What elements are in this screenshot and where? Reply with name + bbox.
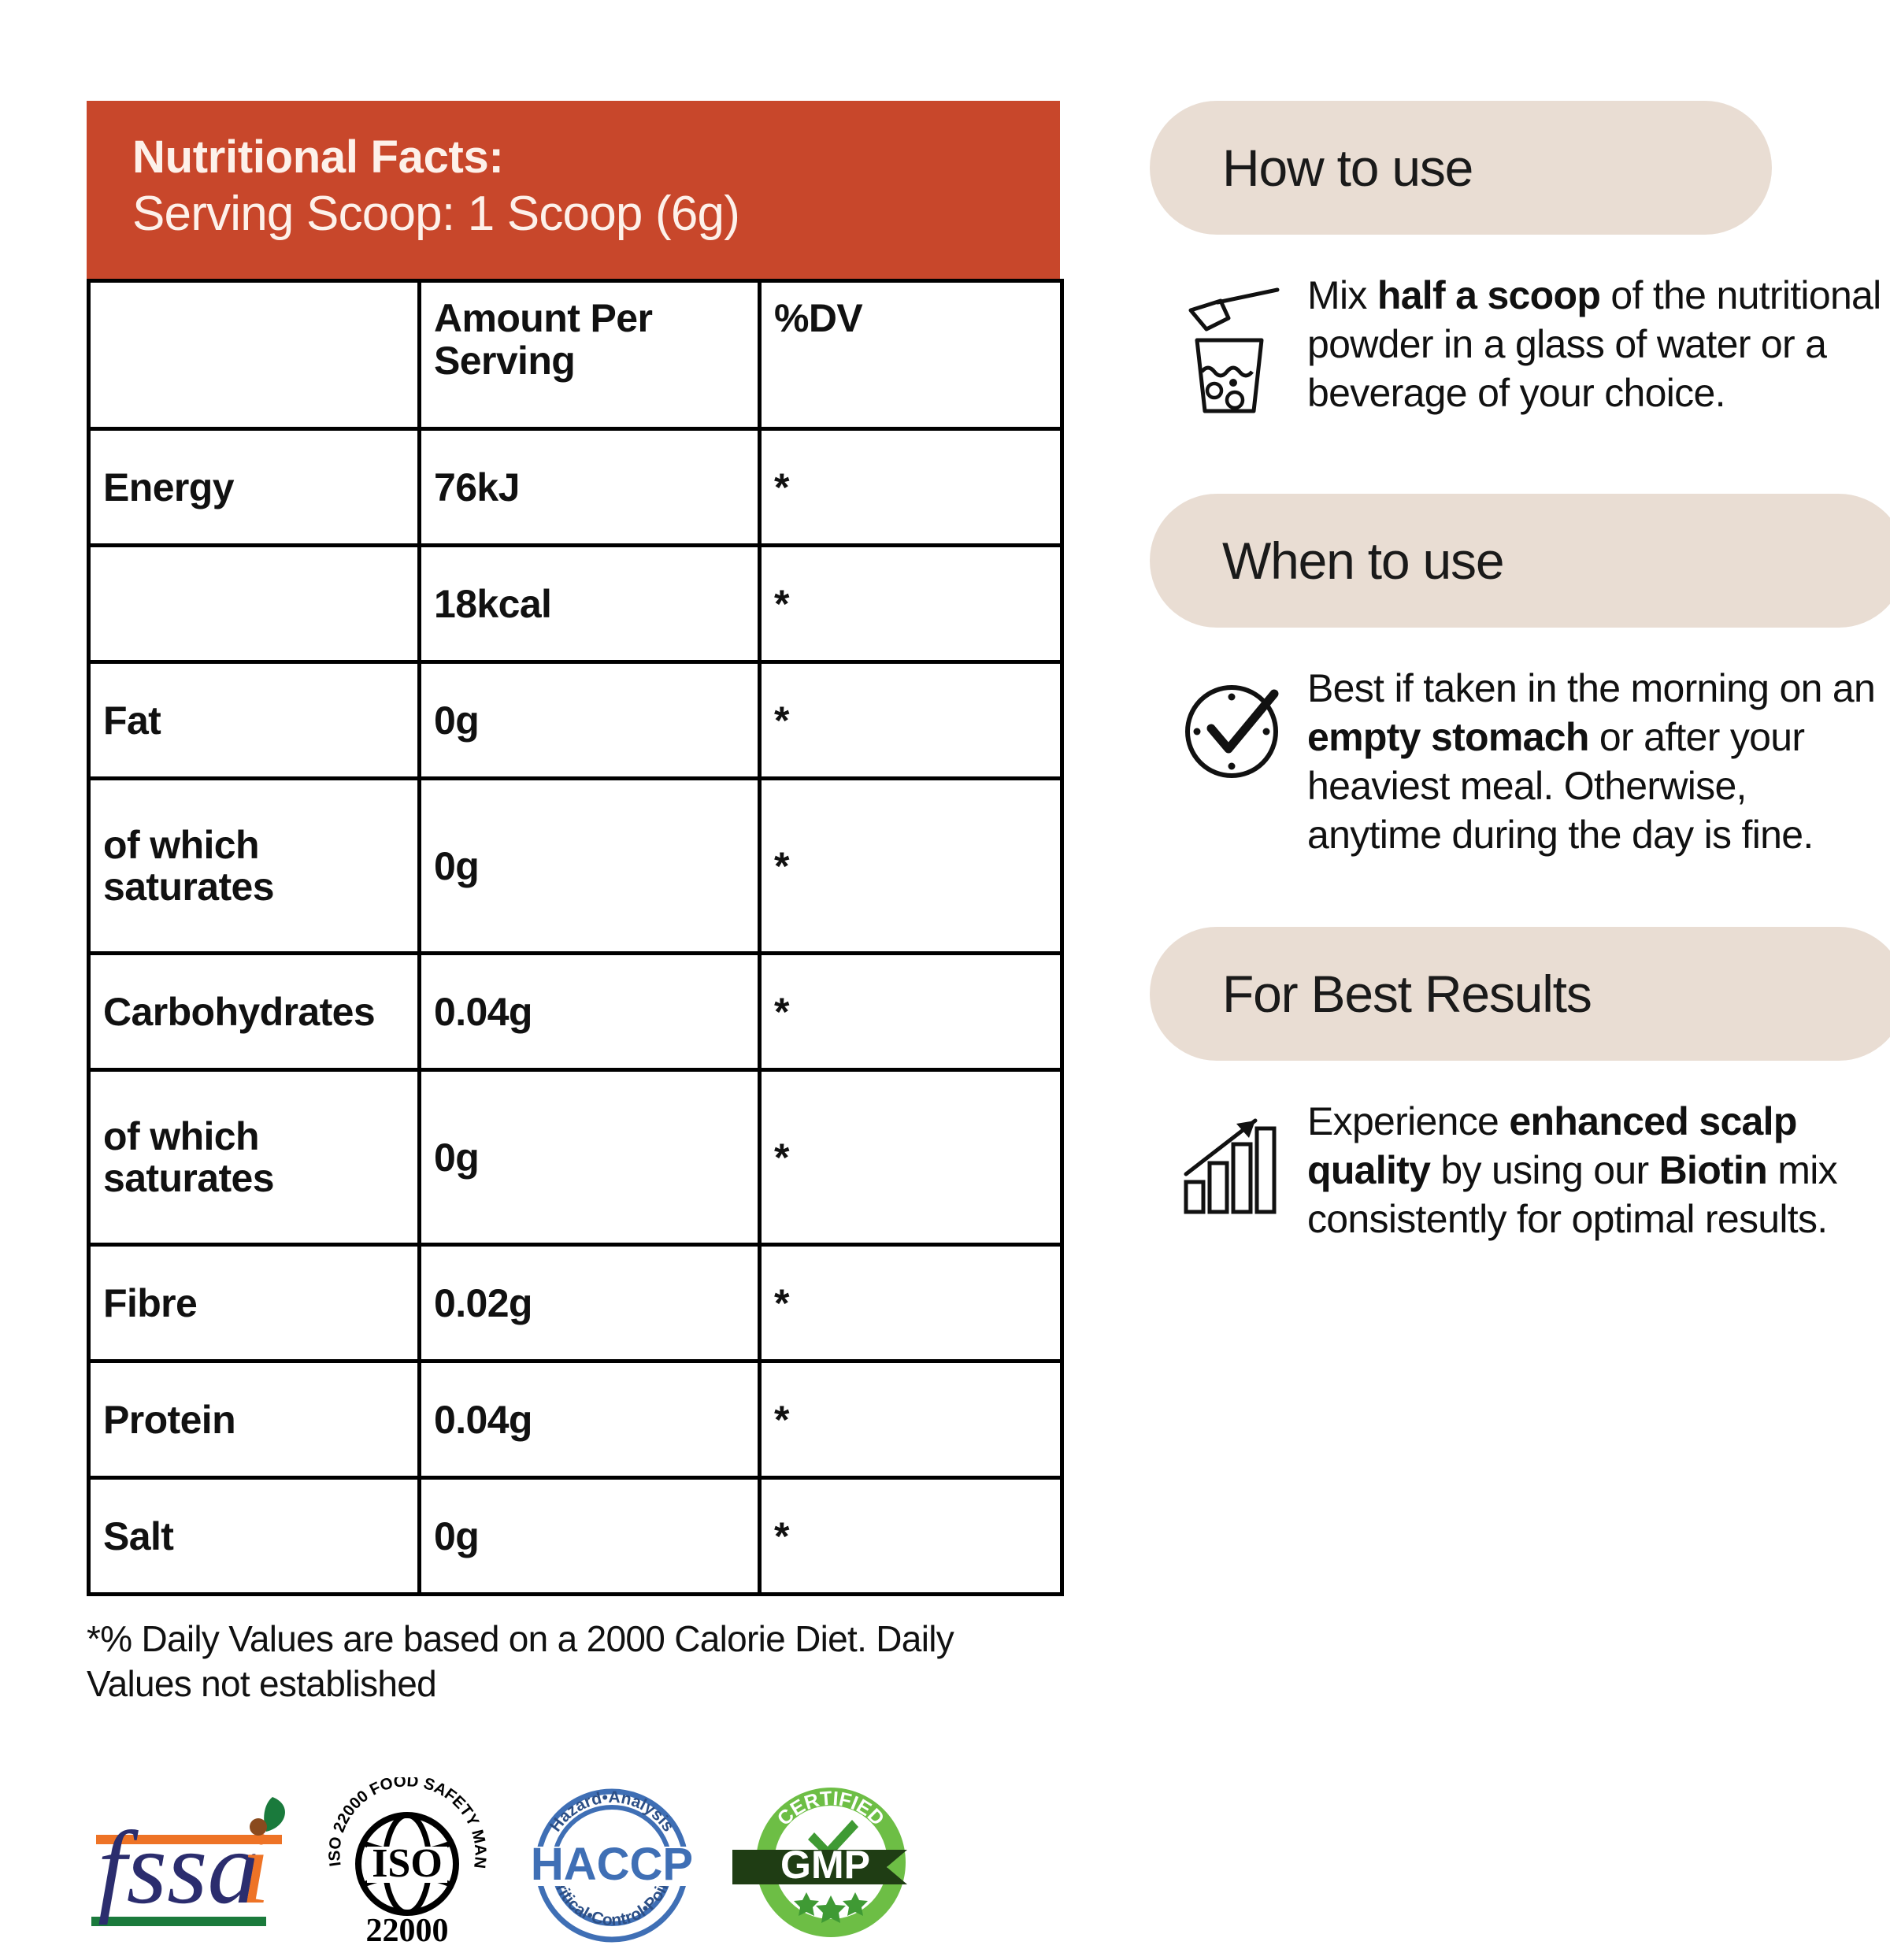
cell-daily-value: *	[760, 1070, 1062, 1245]
instructions-column: How to use Mix half a scoop of the nutri…	[1150, 101, 1890, 1243]
header-cell-dv: %DV	[760, 281, 1062, 429]
table-row: Fat0g*	[89, 662, 1062, 779]
heading-label: For Best Results	[1222, 964, 1592, 1024]
iso-22000-logo: ISO 22000 FOOD SAFETY MANAGEMENT ISO 220…	[323, 1777, 492, 1947]
instruction-block-how-to-use: Mix half a scoop of the nutritional powd…	[1150, 271, 1890, 421]
cell-nutrient: Energy	[89, 429, 420, 546]
svg-text:fssa: fssa	[98, 1810, 259, 1925]
cell-amount: 18kcal	[420, 546, 760, 662]
haccp-logo: Hazard•Analysis Critical•Control•Point H…	[524, 1777, 701, 1947]
cell-nutrient: Fibre	[89, 1245, 420, 1362]
svg-text:GMP: GMP	[780, 1843, 870, 1887]
instruction-text-when-to-use: Best if taken in the morning on an empty…	[1296, 664, 1890, 859]
nutrition-title: Nutritional Facts:	[132, 132, 1060, 183]
cell-amount: 0.02g	[420, 1245, 760, 1362]
heading-label: When to use	[1222, 531, 1503, 591]
table-row: Protein0.04g*	[89, 1362, 1062, 1478]
cell-daily-value: *	[760, 546, 1062, 662]
cell-nutrient: of which saturates	[89, 779, 420, 954]
cell-nutrient: Protein	[89, 1362, 420, 1478]
cell-nutrient: of which saturates	[89, 1070, 420, 1245]
nutrition-panel-header: Nutritional Facts: Serving Scoop: 1 Scoo…	[87, 101, 1060, 279]
cell-amount: 0g	[420, 1478, 760, 1595]
cell-daily-value: *	[760, 954, 1062, 1070]
clock-check-icon	[1180, 664, 1296, 791]
header-cell-nutrient	[89, 281, 420, 429]
svg-text:Hazard•Analysis: Hazard•Analysis	[547, 1788, 677, 1835]
cell-daily-value: *	[760, 662, 1062, 779]
nutrition-facts-table: Amount Per Serving %DV Energy76kJ*18kcal…	[87, 279, 1064, 1596]
table-row: 18kcal*	[89, 546, 1062, 662]
cell-daily-value: *	[760, 779, 1062, 954]
cell-amount: 0.04g	[420, 954, 760, 1070]
scoop-glass-icon	[1180, 271, 1296, 421]
table-row: Fibre0.02g*	[89, 1245, 1062, 1362]
instruction-block-for-best-results: Experience enhanced scalp quality by usi…	[1150, 1097, 1890, 1243]
cell-nutrient: Carbohydrates	[89, 954, 420, 1070]
table-header-row: Amount Per Serving %DV	[89, 281, 1062, 429]
table-row: Carbohydrates0.04g*	[89, 954, 1062, 1070]
table-row: Energy76kJ*	[89, 429, 1062, 546]
table-row: of which saturates0g*	[89, 779, 1062, 954]
svg-text:HACCP: HACCP	[531, 1839, 693, 1890]
table-row: Salt0g*	[89, 1478, 1062, 1595]
cell-nutrient: Fat	[89, 662, 420, 779]
svg-text:22000: 22000	[366, 1913, 449, 1947]
cell-amount: 0g	[420, 779, 760, 954]
instruction-block-when-to-use: Best if taken in the morning on an empty…	[1150, 664, 1890, 859]
bar-chart-growth-icon	[1180, 1097, 1296, 1224]
cell-amount: 0.04g	[420, 1362, 760, 1478]
instruction-text-how-to-use: Mix half a scoop of the nutritional powd…	[1296, 271, 1890, 417]
section-heading-when-to-use: When to use	[1150, 494, 1890, 628]
heading-label: How to use	[1222, 138, 1473, 198]
cell-daily-value: *	[760, 1245, 1062, 1362]
table-row: of which saturates0g*	[89, 1070, 1062, 1245]
cell-amount: 76kJ	[420, 429, 760, 546]
cell-nutrient	[89, 546, 420, 662]
section-heading-for-best-results: For Best Results	[1150, 927, 1890, 1061]
certification-logos: fssa i ISO 22000 FOOD SAFETY MANAGEMENT …	[87, 1763, 1060, 1960]
cell-nutrient: Salt	[89, 1478, 420, 1595]
instruction-text-for-best-results: Experience enhanced scalp quality by usi…	[1296, 1097, 1890, 1243]
svg-text:ISO: ISO	[372, 1841, 443, 1886]
cell-amount: 0g	[420, 662, 760, 779]
cell-daily-value: *	[760, 1478, 1062, 1595]
fssai-logo: fssa i	[87, 1783, 291, 1940]
nutrition-panel: Nutritional Facts: Serving Scoop: 1 Scoo…	[87, 101, 1060, 1960]
cell-amount: 0g	[420, 1070, 760, 1245]
daily-value-footnote: *% Daily Values are based on a 2000 Calo…	[87, 1617, 1060, 1706]
serving-size-text: Serving Scoop: 1 Scoop (6g)	[132, 185, 1060, 243]
cell-daily-value: *	[760, 429, 1062, 546]
section-heading-how-to-use: How to use	[1150, 101, 1772, 235]
gmp-certified-logo: CERTIFIED CERTIFIED GMP	[732, 1777, 929, 1947]
header-cell-amount: Amount Per Serving	[420, 281, 760, 429]
cell-daily-value: *	[760, 1362, 1062, 1478]
